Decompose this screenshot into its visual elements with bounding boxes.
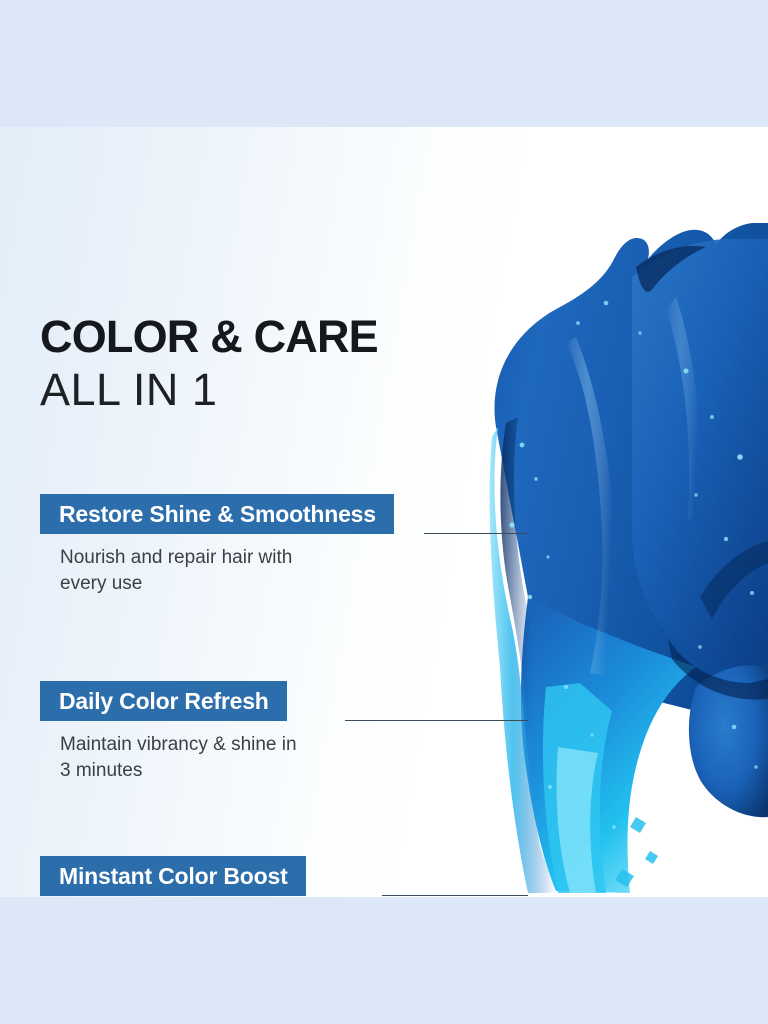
connector-line-1: [424, 533, 528, 534]
product-infographic-page: COLOR & CARE ALL IN 1 Restore Shine & Sm…: [0, 0, 768, 1024]
feature-banner-2: Daily Color Refresh: [40, 681, 287, 721]
product-card: COLOR & CARE ALL IN 1 Restore Shine & Sm…: [0, 127, 768, 897]
connector-line-2: [345, 720, 528, 721]
feature-banner-1: Restore Shine & Smoothness: [40, 494, 394, 534]
feature-description-2: Maintain vibrancy & shine in 3 minutes: [60, 732, 297, 784]
title-line-secondary: ALL IN 1: [40, 364, 378, 416]
title-line-primary: COLOR & CARE: [40, 312, 378, 362]
page-title: COLOR & CARE ALL IN 1: [40, 312, 378, 416]
connector-line-3: [382, 895, 528, 896]
feature-block-3: Minstant Color Boost Dye & touch up fade…: [40, 856, 309, 897]
feature-block-1: Restore Shine & Smoothness Nourish and r…: [40, 494, 394, 597]
feature-banner-3: Minstant Color Boost: [40, 856, 306, 896]
blue-paint-swatch: [400, 127, 768, 897]
feature-block-2: Daily Color Refresh Maintain vibrancy & …: [40, 681, 297, 784]
feature-description-1: Nourish and repair hair with every use: [60, 545, 394, 597]
